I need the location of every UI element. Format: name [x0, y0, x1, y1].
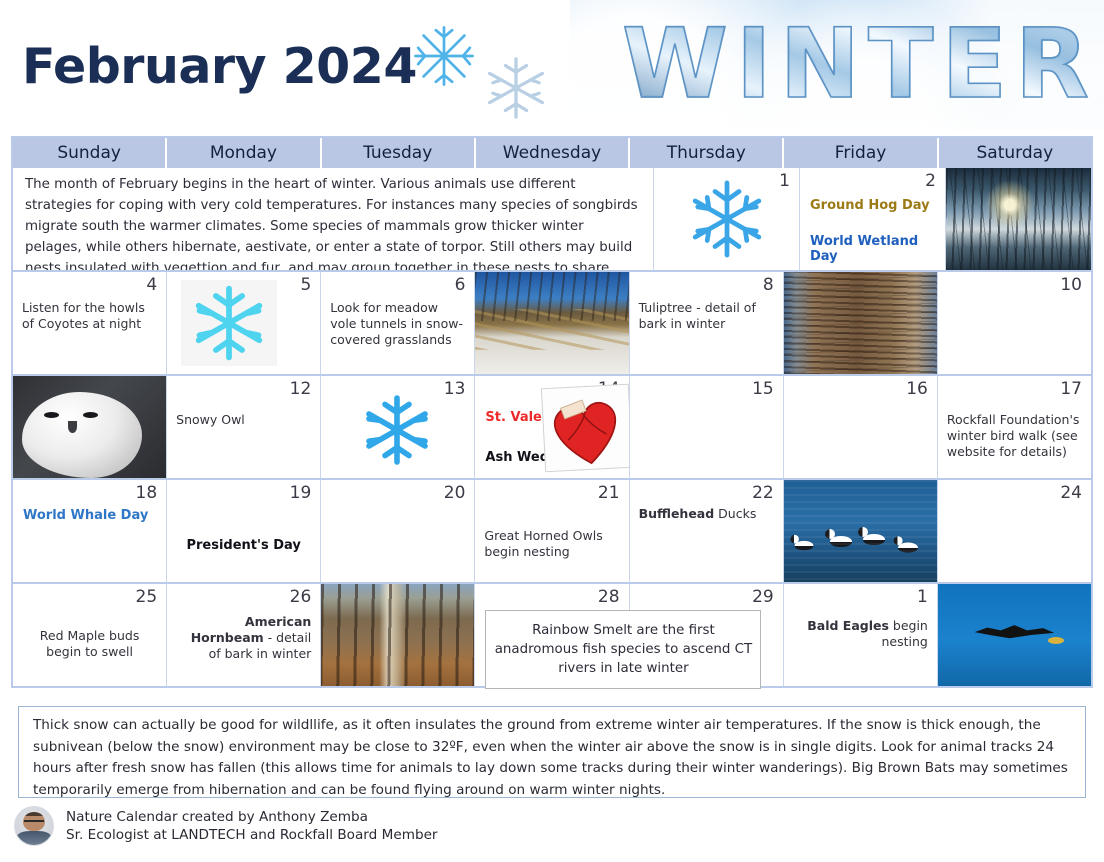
day-cell-17[interactable]: 17 Rockfall Foundation's winter bird wal…	[938, 376, 1091, 478]
banner-word: WINTER	[622, 8, 1097, 120]
day-cell-13[interactable]: 13	[321, 376, 475, 478]
week-row-1: The month of February begins in the hear…	[13, 168, 1091, 272]
weekday-thursday: Thursday	[630, 138, 784, 168]
snowflake-icon	[684, 176, 770, 262]
day-number: 2	[925, 171, 936, 191]
day-cell-28[interactable]: 28 Rainbow Smelt are the first anadromou…	[475, 584, 629, 686]
day-note-bold: Bald Eagles	[807, 618, 889, 633]
day-cell-4[interactable]: 4 Listen for the howls of Coyotes at nig…	[13, 272, 167, 374]
day-number: 1	[779, 171, 790, 191]
holiday-label: World Whale Day	[23, 508, 148, 523]
day-cell-20[interactable]: 20	[321, 480, 475, 582]
day-number: 5	[300, 275, 311, 295]
day-number: 17	[1060, 379, 1082, 399]
credit-block: Nature Calendar created by Anthony Zemba…	[14, 806, 438, 846]
credit-line-1: Nature Calendar created by Anthony Zemba	[66, 808, 438, 826]
week-row-5: 25 Red Maple buds begin to swell 26 Amer…	[13, 584, 1091, 688]
eagle-head	[1048, 637, 1064, 644]
day-number: 6	[455, 275, 466, 295]
day-cell-8[interactable]: 8 Tuliptree - detail of bark in winter	[630, 272, 784, 374]
snowflake-icon	[351, 390, 443, 470]
day-note-bold: Bufflehead	[639, 506, 715, 521]
day-number: 28	[598, 587, 620, 607]
day-note: Snowy Owl	[176, 412, 311, 428]
day-cell-22[interactable]: 22 Bufflehead Ducks	[630, 480, 784, 582]
weekday-saturday: Saturday	[939, 138, 1091, 168]
duck	[830, 536, 852, 547]
day-number: 25	[136, 587, 158, 607]
day-number: 20	[444, 483, 466, 503]
day-number: 10	[1060, 275, 1082, 295]
day-number: 12	[290, 379, 312, 399]
day-note: Rockfall Foundation's winter bird walk (…	[947, 412, 1082, 460]
snowflake-icon	[410, 22, 478, 90]
snowflake-icon	[483, 55, 549, 121]
valentine-heart-image	[532, 376, 630, 478]
duck	[898, 543, 918, 553]
day-cell-5[interactable]: 5	[167, 272, 321, 374]
day-number: 19	[290, 483, 312, 503]
day-cell-7[interactable]	[475, 272, 629, 374]
heart-icon	[535, 380, 630, 478]
day-note: Bald Eagles begin nesting	[793, 618, 928, 650]
credit-line-2: Sr. Ecologist at LANDTECH and Rockfall B…	[66, 826, 438, 844]
weekday-header-row: Sunday Monday Tuesday Wednesday Thursday…	[13, 138, 1091, 168]
day-cell-12[interactable]: 12 Snowy Owl	[167, 376, 321, 478]
day-number: 22	[752, 483, 774, 503]
day-note: Red Maple buds begin to swell	[22, 628, 157, 660]
day-cell-15[interactable]: 15	[630, 376, 784, 478]
day-cell-16[interactable]: 16	[784, 376, 938, 478]
day-cell-9[interactable]	[784, 272, 938, 374]
hornbeam-forest-photo	[321, 584, 474, 686]
day-number: 1	[917, 587, 928, 607]
weekday-wednesday: Wednesday	[476, 138, 630, 168]
day-number: 8	[763, 275, 774, 295]
owl-eye-right	[83, 412, 98, 418]
weekday-friday: Friday	[784, 138, 938, 168]
day-number: 24	[1060, 483, 1082, 503]
day-note: Listen for the howls of Coyotes at night	[22, 300, 157, 332]
day-number: 29	[752, 587, 774, 607]
day-number: 16	[906, 379, 928, 399]
day-cell-23[interactable]	[784, 480, 938, 582]
winter-sunset-swamp-photo	[946, 168, 1091, 270]
day-note-box: Rainbow Smelt are the first anadromous f…	[485, 610, 761, 689]
day-cell-10[interactable]: 10	[938, 272, 1091, 374]
avatar	[14, 806, 54, 846]
snowflake-icon	[185, 282, 273, 364]
holiday-label: World Wetland Day	[810, 234, 945, 264]
holiday-label: President's Day	[167, 538, 320, 553]
week-row-2: 4 Listen for the howls of Coyotes at nig…	[13, 272, 1091, 376]
day-cell-21[interactable]: 21 Great Horned Owls begin nesting	[475, 480, 629, 582]
tuliptree-bark-photo	[784, 272, 937, 374]
weekday-tuesday: Tuesday	[322, 138, 476, 168]
duck	[863, 534, 885, 545]
weekday-monday: Monday	[167, 138, 321, 168]
day-note-rest: Ducks	[714, 506, 756, 521]
day-cell-25[interactable]: 25 Red Maple buds begin to swell	[13, 584, 167, 686]
day-cell-26[interactable]: 26 American Hornbeam - detail of bark in…	[167, 584, 321, 686]
day-number: 18	[136, 483, 158, 503]
day-cell-1[interactable]: 1	[654, 168, 800, 270]
owl-body	[22, 392, 141, 478]
day-cell-14[interactable]: 14 St. Valentine's Day Ash Wednesdav	[475, 376, 629, 478]
day-number: 15	[752, 379, 774, 399]
day-cell-6[interactable]: 6 Look for meadow vole tunnels in snow-c…	[321, 272, 475, 374]
flying-bald-eagle-photo	[938, 584, 1091, 686]
day-cell-11[interactable]	[13, 376, 167, 478]
intro-text: The month of February begins in the hear…	[25, 174, 643, 270]
day-cell-24[interactable]: 24	[938, 480, 1091, 582]
footnote-text: Thick snow can actually be good for wild…	[33, 715, 1071, 801]
owl-beak	[68, 421, 77, 433]
day-note: American Hornbeam - detail of bark in wi…	[176, 614, 311, 662]
owl-eye-left	[44, 412, 59, 418]
eagle-silhouette	[975, 625, 1055, 639]
holiday-label: Ground Hog Day	[810, 198, 930, 213]
day-cell-mar-2[interactable]	[938, 584, 1091, 686]
snowy-owl-photo	[13, 376, 166, 478]
week-row-4: 18 World Whale Day 19 President's Day 20…	[13, 480, 1091, 584]
snowy-field-treeline-photo	[475, 272, 628, 374]
avatar-shirt	[17, 831, 50, 845]
footnote-box: Thick snow can actually be good for wild…	[18, 706, 1086, 798]
day-note-rest: begin nesting	[881, 618, 927, 649]
day-cell-mar-1[interactable]: 1 Bald Eagles begin nesting	[784, 584, 938, 686]
bufflehead-ducks-photo	[784, 480, 937, 582]
day-cell-27[interactable]	[321, 584, 475, 686]
week-row-3: 12 Snowy Owl 13 14 St. Valentine's Day	[13, 376, 1091, 480]
intro-paragraph-cell: The month of February begins in the hear…	[13, 168, 654, 270]
weekday-sunday: Sunday	[13, 138, 167, 168]
day-number: 21	[598, 483, 620, 503]
day-cell-2[interactable]: 2 Ground Hog Day World Wetland Day	[800, 168, 946, 270]
duck	[795, 541, 814, 550]
day-number: 13	[444, 379, 466, 399]
credit-lines: Nature Calendar created by Anthony Zemba…	[66, 808, 438, 844]
day-cell-19[interactable]: 19 President's Day	[167, 480, 321, 582]
page-title: February 2024	[22, 38, 417, 95]
calendar-grid: Sunday Monday Tuesday Wednesday Thursday…	[11, 136, 1093, 688]
day-note: Tuliptree - detail of bark in winter	[639, 300, 774, 332]
day-cell-18[interactable]: 18 World Whale Day	[13, 480, 167, 582]
calendar-header: February 2024 WINTER	[0, 0, 1104, 136]
day-note: Bufflehead Ducks	[639, 506, 774, 522]
avatar-glasses	[24, 820, 44, 827]
day-number: 26	[290, 587, 312, 607]
winter-banner-image: WINTER	[570, 0, 1104, 130]
day-cell-3[interactable]	[946, 168, 1091, 270]
day-number: 4	[146, 275, 157, 295]
day-note: Look for meadow vole tunnels in snow-cov…	[330, 300, 465, 348]
day-note: Great Horned Owls begin nesting	[484, 528, 619, 560]
